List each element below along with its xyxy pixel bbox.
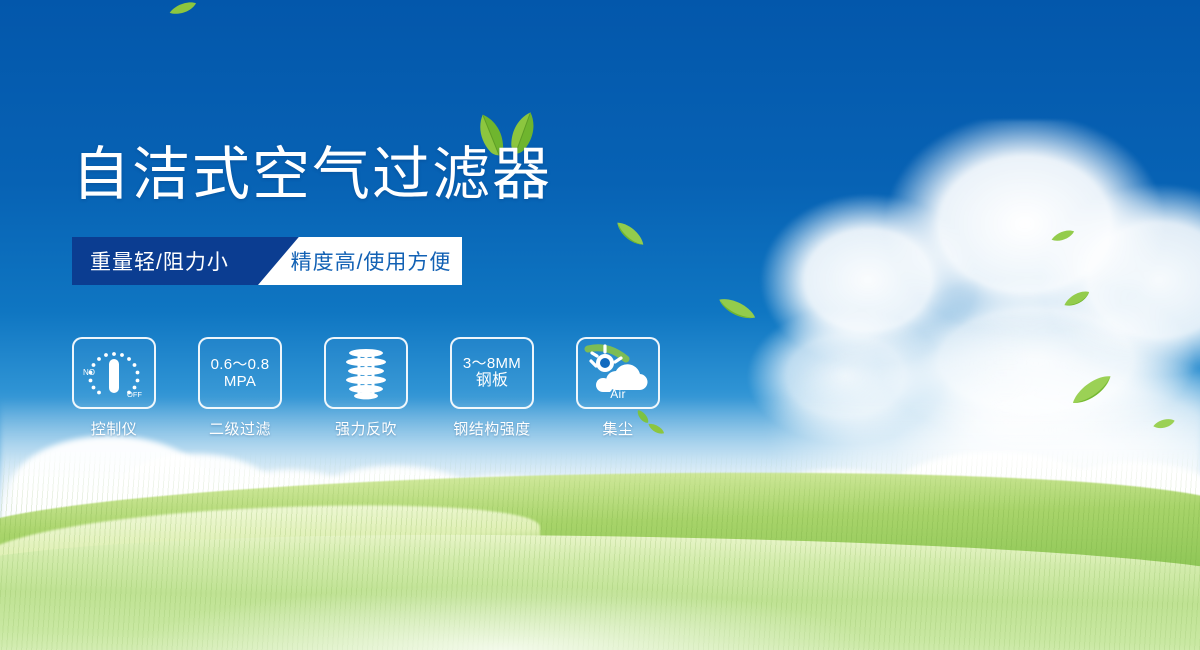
pressure-range-value: 0.6〜0.8 [211, 356, 270, 373]
feature-item[interactable]: Air 集尘 [576, 337, 660, 439]
feature-label: 集尘 [602, 418, 633, 439]
pressure-range-unit: MPA [224, 373, 256, 390]
dial-off-label: OFF [127, 390, 142, 399]
feature-item[interactable]: 3〜8MM 钢板 钢结构强度 [450, 337, 534, 439]
steel-plate-thickness: 3〜8MM [463, 355, 521, 372]
air-label: Air [578, 388, 658, 402]
steel-plate-icon: 3〜8MM 钢板 [450, 337, 534, 409]
feature-item[interactable]: 0.6〜0.8 MPA 二级过滤 [198, 337, 282, 439]
control-dial-icon: NO OFF [72, 337, 156, 409]
product-banner: 自洁式空气过滤器 重量轻/阻力小 精度高/使用方便 [0, 0, 1200, 650]
air-cloud-icon: Air [576, 337, 660, 409]
tagline-badge-primary-label: 重量轻/阻力小 [72, 246, 229, 276]
pressure-range-icon: 0.6〜0.8 MPA [198, 337, 282, 409]
feature-item[interactable]: NO OFF 控制仪 [72, 337, 156, 439]
feature-label: 二级过滤 [209, 418, 271, 439]
feature-item[interactable]: 强力反吹 [324, 337, 408, 439]
tagline-badge-secondary-label: 精度高/使用方便 [269, 246, 452, 276]
dial-on-label: NO [83, 368, 95, 377]
feature-list: NO OFF 控制仪 0.6〜0.8 MPA 二级过滤 [72, 337, 660, 439]
feature-label: 控制仪 [91, 418, 138, 439]
tagline-badge-bar: 重量轻/阻力小 精度高/使用方便 [72, 237, 462, 285]
steel-plate-material: 钢板 [476, 372, 509, 390]
page-title: 自洁式空气过滤器 [72, 146, 552, 204]
feature-label: 钢结构强度 [453, 418, 531, 439]
feature-label: 强力反吹 [335, 418, 397, 439]
backblow-filter-icon [324, 337, 408, 409]
